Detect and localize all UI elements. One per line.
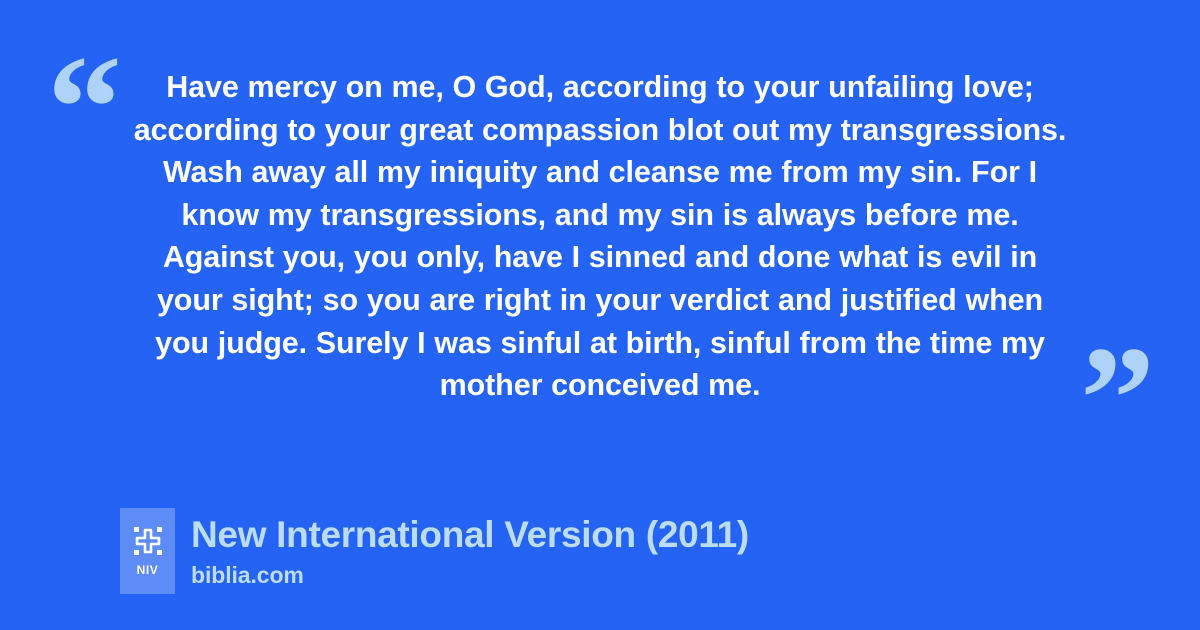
footer-attribution: NIV New International Version (2011) bib…	[120, 508, 749, 594]
closing-quote-icon: ”	[1080, 324, 1155, 474]
niv-badge-label: NIV	[137, 564, 159, 576]
niv-logo-badge: NIV	[120, 508, 175, 594]
cross-with-corner-handles-icon	[134, 527, 162, 555]
footer-text-block: New International Version (2011) biblia.…	[191, 508, 749, 590]
bible-version-title: New International Version (2011)	[191, 512, 749, 558]
quote-card: “ Have mercy on me, O God, according to …	[0, 0, 1200, 630]
quote-text: Have mercy on me, O God, according to yo…	[128, 66, 1072, 407]
source-website-url: biblia.com	[191, 560, 749, 590]
opening-quote-icon: “	[47, 33, 122, 183]
